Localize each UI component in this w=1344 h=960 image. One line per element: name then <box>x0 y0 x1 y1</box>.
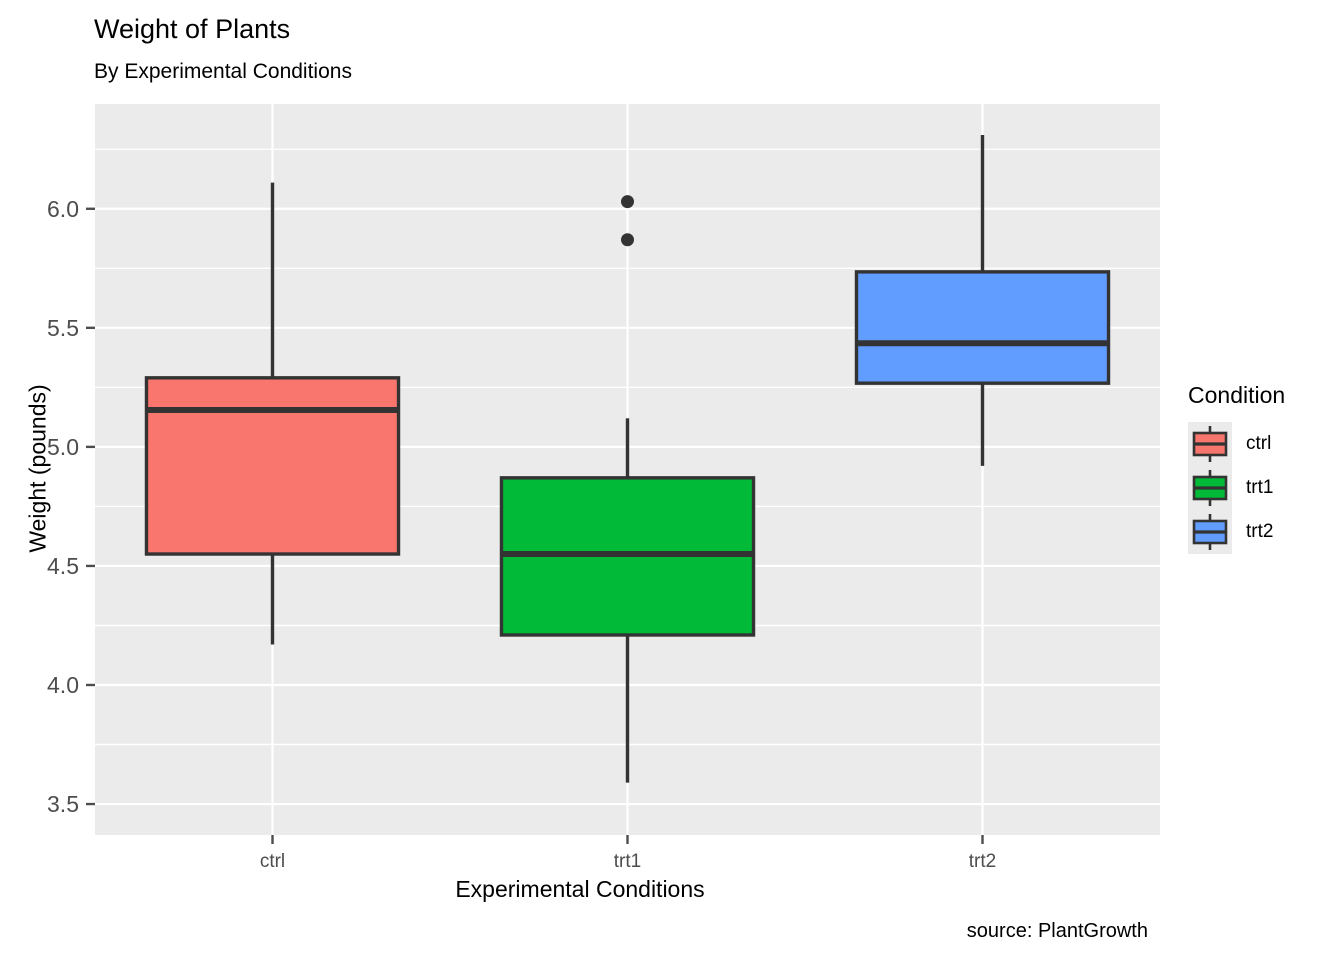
y-axis-tick-label: 4.5 <box>47 553 79 579</box>
outlier-point <box>621 195 634 208</box>
x-axis-tick-label: trt2 <box>969 851 996 872</box>
y-axis-tick-label: 3.5 <box>47 791 79 817</box>
plot-root: Weight of Plants By Experimental Conditi… <box>0 0 1344 960</box>
y-axis: 3.54.04.55.05.56.0 <box>47 196 95 817</box>
legend-item-ctrl[interactable]: ctrl <box>1188 422 1273 466</box>
legend: ctrltrt1trt2 <box>1188 422 1273 554</box>
y-axis-title: Weight (pounds) <box>25 189 52 749</box>
y-axis-tick-label: 5.0 <box>47 434 79 460</box>
boxplot-svg: 3.54.04.55.05.56.0ctrltrt1trt2 <box>0 0 1344 960</box>
legend-key-icon <box>1188 422 1232 466</box>
box <box>146 378 398 554</box>
legend-item-trt1[interactable]: trt1 <box>1188 466 1273 510</box>
legend-item-label: trt2 <box>1246 521 1273 543</box>
x-axis-tick-label: trt1 <box>614 851 641 872</box>
legend-item-trt2[interactable]: trt2 <box>1188 510 1273 554</box>
y-axis-tick-label: 4.0 <box>47 672 79 698</box>
legend-box-glyph <box>1188 466 1232 510</box>
x-axis-tick-label: ctrl <box>260 851 285 872</box>
x-axis-title: Experimental Conditions <box>0 876 1160 903</box>
y-axis-tick-label: 6.0 <box>47 196 79 222</box>
y-axis-tick-label: 5.5 <box>47 315 79 341</box>
legend-title: Condition <box>1188 382 1285 409</box>
page-title: Weight of Plants <box>94 14 290 45</box>
box <box>856 272 1108 383</box>
chart-subtitle: By Experimental Conditions <box>94 60 352 84</box>
legend-key-icon <box>1188 466 1232 510</box>
chart-caption: source: PlantGrowth <box>967 920 1148 943</box>
legend-item-label: ctrl <box>1246 433 1271 455</box>
legend-box-glyph <box>1188 510 1232 554</box>
legend-key-icon <box>1188 510 1232 554</box>
legend-item-label: trt1 <box>1246 477 1273 499</box>
x-axis: ctrltrt1trt2 <box>260 835 996 872</box>
legend-box-glyph <box>1188 422 1232 466</box>
outlier-point <box>621 233 634 246</box>
